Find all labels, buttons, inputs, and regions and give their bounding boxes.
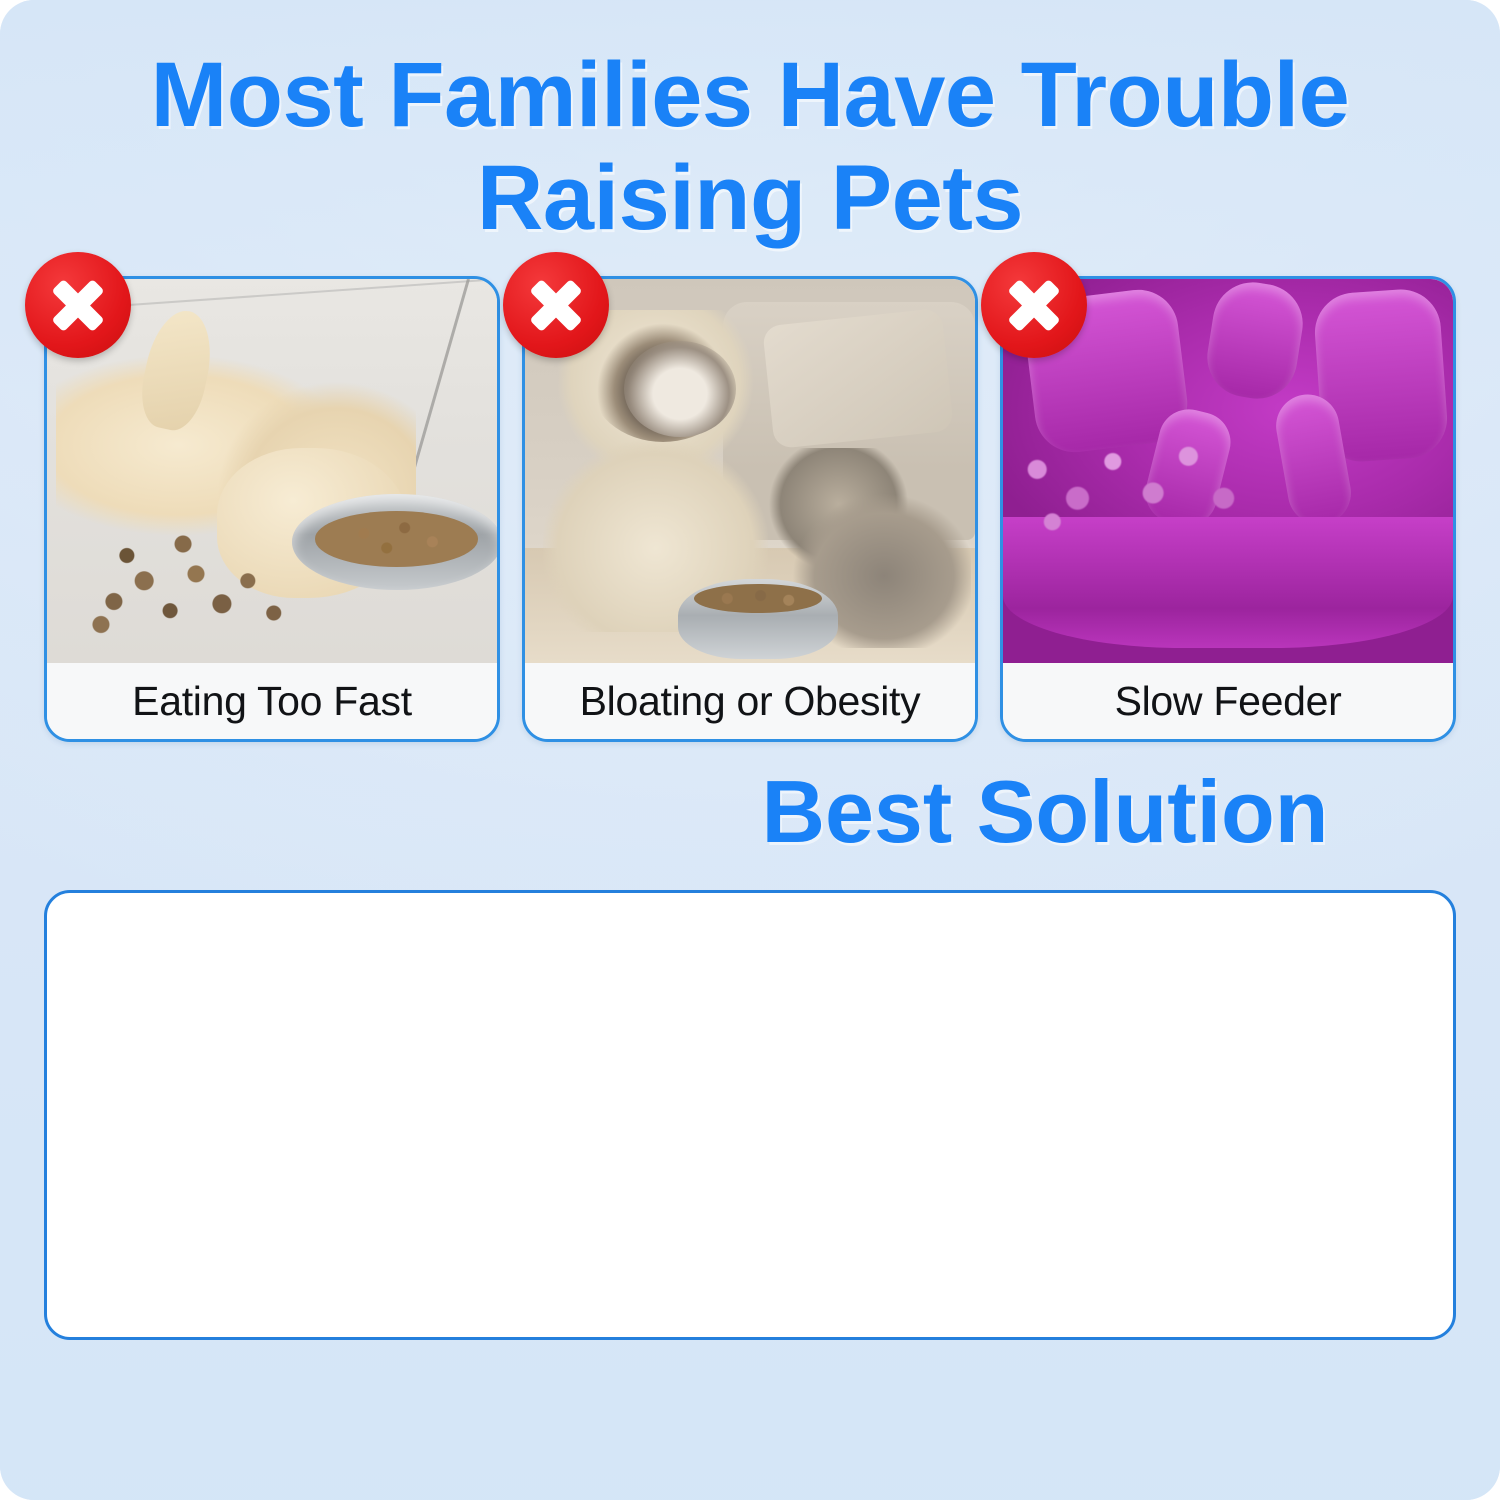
page-title-line-2: Raising Pets <box>60 147 1440 250</box>
x-mark-icon <box>981 252 1087 358</box>
problem-card-label: Slow Feeder <box>1003 663 1453 739</box>
problem-card-slow-feeder[interactable]: Slow Feeder <box>1000 276 1456 742</box>
x-mark-icon <box>25 252 131 358</box>
solution-panel <box>44 890 1456 1340</box>
problem-card-eating-too-fast[interactable]: Eating Too Fast <box>44 276 500 742</box>
infographic-page: Most Families Have Trouble Raising Pets … <box>0 0 1500 1500</box>
solution-title: Best Solution <box>620 768 1470 856</box>
problem-card-label: Bloating or Obesity <box>525 663 975 739</box>
x-mark-icon <box>503 252 609 358</box>
page-title-line-1: Most Families Have Trouble <box>151 44 1350 146</box>
problem-card-bloating-or-obesity[interactable]: Bloating or Obesity <box>522 276 978 742</box>
problem-card-row: Eating Too Fast Bloating or Obesity <box>0 250 1500 742</box>
page-title: Most Families Have Trouble Raising Pets <box>0 0 1500 250</box>
problem-card-label: Eating Too Fast <box>47 663 497 739</box>
